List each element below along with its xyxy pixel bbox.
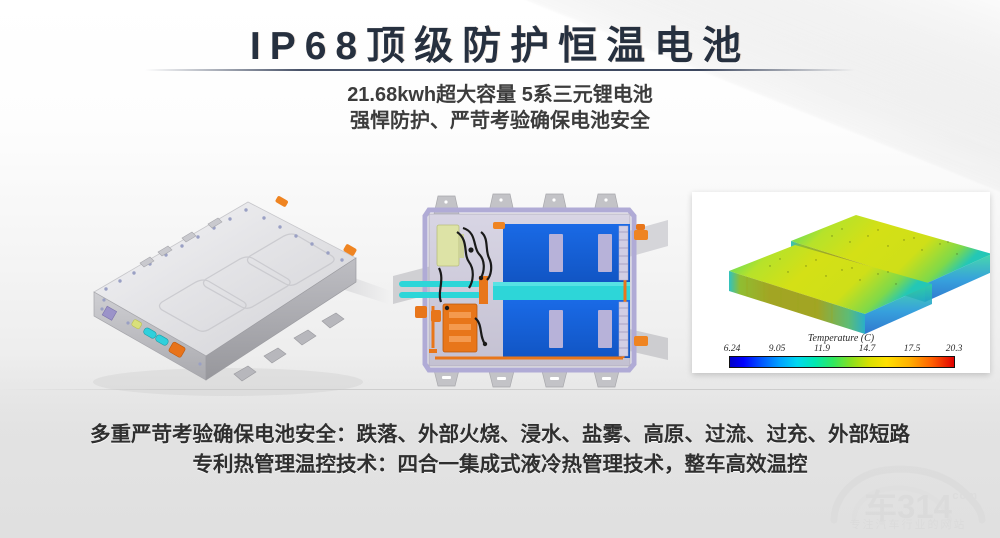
thermal-simulation-panel: Temperature (C) 6.24 9.05 11.9 14.7 17.5… <box>692 192 990 373</box>
caption-line-1: 多重严苛考验确保电池安全：跌落、外部火烧、浸水、盐雾、高原、过流、过充、外部短路 <box>0 420 1000 449</box>
colorbar-tick-2: 11.9 <box>814 344 830 354</box>
watermark-brand: 车314 <box>824 480 992 528</box>
colorbar-tick-4: 17.5 <box>904 344 921 354</box>
subtitle-block: 21.68kwh超大容量 5系三元锂电池 强悍防护、严苛考验确保电池安全 <box>0 82 1000 134</box>
colorbar-tick-3: 14.7 <box>859 344 876 354</box>
colorbar-tick-1: 9.05 <box>769 344 786 354</box>
colorbar-tick-5: 20.3 <box>946 344 963 354</box>
watermark-tagline: 专注汽车行业的网站 <box>824 516 992 532</box>
title-divider <box>145 69 855 71</box>
battery-pack-closed-illustration <box>58 196 398 406</box>
watermark-tld: com <box>952 490 978 502</box>
caption-line-2: 专利热管理温控技术：四合一集成式液冷热管理技术，整车高效温控 <box>0 450 1000 479</box>
page-title: IP68顶级防护恒温电池 <box>0 15 1000 71</box>
colorbar <box>729 356 955 368</box>
slide-root: IP68顶级防护恒温电池 21.68kwh超大容量 5系三元锂电池 强悍防护、严… <box>0 0 1000 538</box>
subtitle-line-2: 强悍防护、严苛考验确保电池安全 <box>0 108 1000 134</box>
colorbar-ticks: 6.24 9.05 11.9 14.7 17.5 20.3 <box>722 344 960 356</box>
subtitle-line-1: 21.68kwh超大容量 5系三元锂电池 <box>0 82 1000 108</box>
battery-pack-cutaway-illustration <box>393 188 668 393</box>
colorbar-title: Temperature (C) <box>692 333 990 344</box>
thermal-heatmap <box>692 192 990 337</box>
colorbar-tick-0: 6.24 <box>724 344 741 354</box>
